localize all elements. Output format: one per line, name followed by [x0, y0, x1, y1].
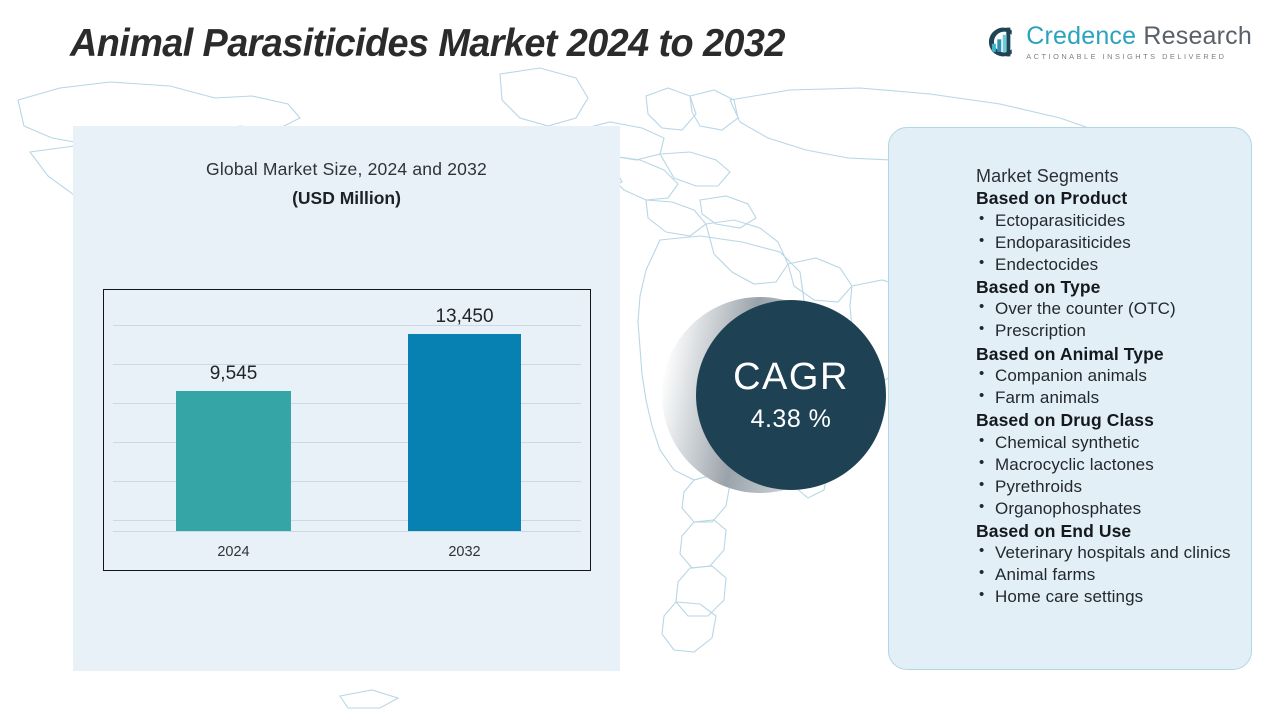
brand-logo: Credence Research Actionable Insights De… — [982, 24, 1252, 60]
page-title: Animal Parasiticides Market 2024 to 2032 — [70, 22, 785, 66]
chart-bars: 9,545202413,4502032 — [104, 290, 590, 570]
segments-heading: Market Segments — [976, 165, 1243, 187]
segment-group-title: Based on End Use — [976, 520, 1243, 542]
segment-list-item: Organophosphates — [976, 498, 1243, 520]
brand-name-first: Credence — [1026, 22, 1136, 50]
chart-title: Global Market Size, 2024 and 2032 — [73, 159, 620, 180]
segment-list-item: Macrocyclic lactones — [976, 454, 1243, 476]
segment-list-item: Home care settings — [976, 586, 1243, 608]
segment-list-item: Veterinary hospitals and clinics — [976, 542, 1243, 564]
segment-list-item: Farm animals — [976, 387, 1243, 409]
segment-list-item: Prescription — [976, 320, 1243, 342]
chart-subtitle: (USD Million) — [73, 188, 620, 209]
brand-name-second: Research — [1143, 22, 1252, 50]
chart-bar — [176, 391, 291, 531]
brand-tagline: Actionable Insights Delivered — [1026, 53, 1252, 60]
segment-list-item: Companion animals — [976, 365, 1243, 387]
brand-text: Credence Research Actionable Insights De… — [1026, 24, 1252, 60]
segment-list-item: Endoparasiticides — [976, 232, 1243, 254]
chart-bar-value-label: 13,450 — [383, 306, 546, 328]
market-segments-list: Market Segments Based on ProductEctopara… — [976, 165, 1243, 609]
cagr-badge: CAGR 4.38 % — [662, 297, 892, 497]
segment-list-item: Over the counter (OTC) — [976, 298, 1243, 320]
chart-category-label: 2024 — [151, 544, 316, 560]
cagr-value: 4.38 % — [751, 407, 832, 432]
chart-bar-value-label: 9,545 — [151, 363, 316, 385]
chart-category-label: 2032 — [383, 544, 546, 560]
segment-group-title: Based on Product — [976, 187, 1243, 209]
segment-list-item: Animal farms — [976, 564, 1243, 586]
segment-group-title: Based on Drug Class — [976, 409, 1243, 431]
segment-group-title: Based on Type — [976, 276, 1243, 298]
bar-chart-circle-logo-icon — [982, 24, 1018, 60]
cagr-label: CAGR — [733, 358, 849, 396]
chart-bar — [408, 334, 521, 531]
chart-plot-area: 9,545202413,4502032 — [103, 289, 591, 571]
brand-name: Credence Research — [1026, 24, 1252, 49]
segment-group-title: Based on Animal Type — [976, 343, 1243, 365]
segment-list-item: Pyrethroids — [976, 476, 1243, 498]
segment-list-item: Endectocides — [976, 254, 1243, 276]
segment-list-item: Ectoparasiticides — [976, 210, 1243, 232]
segment-list-item: Chemical synthetic — [976, 432, 1243, 454]
market-segments-panel: Market Segments Based on ProductEctopara… — [888, 127, 1252, 670]
cagr-circle: CAGR 4.38 % — [696, 300, 886, 490]
market-size-chart-panel: Global Market Size, 2024 and 2032 (USD M… — [73, 126, 620, 671]
